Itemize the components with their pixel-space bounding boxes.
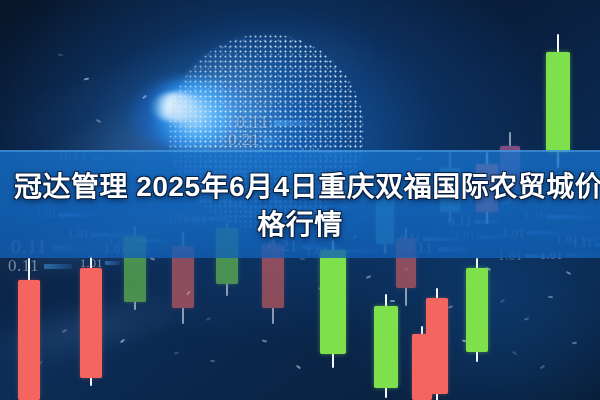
candle-body: [546, 52, 570, 152]
candle-body: [320, 250, 346, 354]
page-title-line-2: 格行情: [14, 206, 586, 244]
page-title-line-1: 冠达管理 2025年6月4日重庆双福国际农贸城价: [14, 168, 586, 206]
candle-body: [80, 268, 102, 378]
candle-body: [18, 280, 40, 400]
page-title: 冠达管理 2025年6月4日重庆双福国际农贸城价 格行情: [0, 168, 600, 244]
banner-canvas: 0.110.110.111.011.011.011.111.011.910.11…: [0, 0, 600, 400]
title-band-top-edge: [0, 150, 600, 152]
